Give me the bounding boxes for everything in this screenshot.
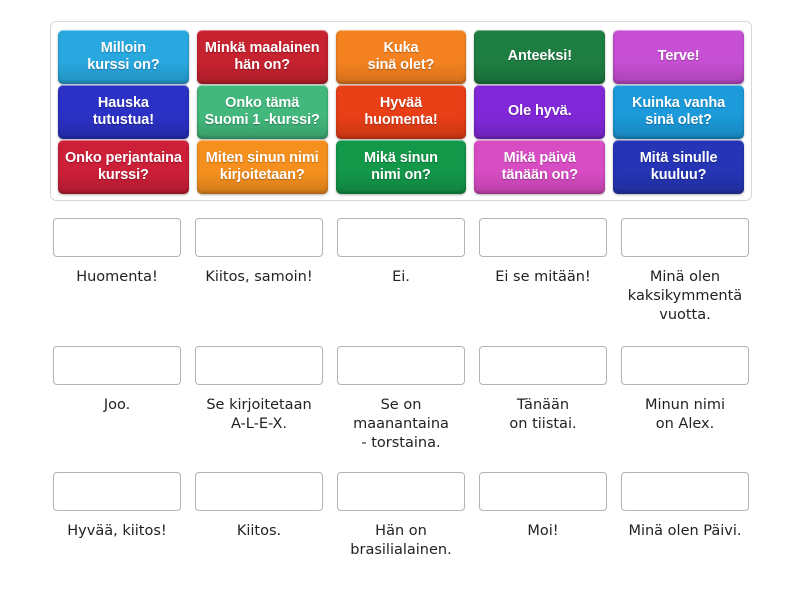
- answer-label: Minä olenkaksikymmentävuotta.: [619, 268, 751, 325]
- answer-cell: Se kirjoitetaanA-L-E-X.: [192, 338, 326, 458]
- answer-cell: Kiitos.: [192, 464, 326, 574]
- drop-zone[interactable]: [195, 218, 323, 257]
- answer-cell: Huomenta!: [50, 210, 184, 332]
- answer-label: Minun nimion Alex.: [619, 396, 751, 434]
- drop-zone[interactable]: [479, 218, 607, 257]
- activity-stage: Milloinkurssi on? Minkä maalainenhän on?…: [0, 0, 800, 600]
- answer-cell: Ei se mitään!: [476, 210, 610, 332]
- answer-cell: Tänäänon tiistai.: [476, 338, 610, 458]
- answer-row-3: Hyvää, kiitos! Kiitos. Hän onbrasilialai…: [50, 464, 752, 574]
- answer-label: Ei.: [335, 268, 467, 287]
- answer-cell: Minä olenkaksikymmentävuotta.: [618, 210, 752, 332]
- answer-row-1: Huomenta! Kiitos, samoin! Ei. Ei se mitä…: [50, 210, 752, 332]
- draggable-tile[interactable]: Onko tämäSuomi 1 -kurssi?: [197, 85, 328, 139]
- drop-zone[interactable]: [337, 472, 465, 511]
- answer-label: Kiitos, samoin!: [193, 268, 325, 287]
- drop-zone[interactable]: [621, 218, 749, 257]
- answer-cell: Hyvää, kiitos!: [50, 464, 184, 574]
- tile-label: Mitä sinullekuuluu?: [640, 150, 718, 184]
- drop-zone[interactable]: [621, 472, 749, 511]
- drop-zone[interactable]: [53, 472, 181, 511]
- tile-label: Onko tämäSuomi 1 -kurssi?: [205, 95, 320, 129]
- answer-cell: Minun nimion Alex.: [618, 338, 752, 458]
- answer-cell: Minä olen Päivi.: [618, 464, 752, 574]
- tile-row-2: Hauskatutustua! Onko tämäSuomi 1 -kurssi…: [58, 85, 744, 139]
- drop-zone[interactable]: [53, 218, 181, 257]
- drop-zone[interactable]: [479, 472, 607, 511]
- answer-label: Kiitos.: [193, 522, 325, 541]
- draggable-tile[interactable]: Ole hyvä.: [474, 85, 605, 139]
- tile-label: Onko perjantainakurssi?: [65, 150, 182, 184]
- answer-label: Se kirjoitetaanA-L-E-X.: [193, 396, 325, 434]
- draggable-tile[interactable]: Mikä sinunnimi on?: [336, 140, 467, 194]
- answer-label: Hän onbrasilialainen.: [335, 522, 467, 560]
- tile-bank-panel: Milloinkurssi on? Minkä maalainenhän on?…: [50, 21, 752, 201]
- draggable-tile[interactable]: Hyväähuomenta!: [336, 85, 467, 139]
- tile-label: Hauskatutustua!: [93, 95, 154, 129]
- draggable-tile[interactable]: Mitä sinullekuuluu?: [613, 140, 744, 194]
- answer-cell: Kiitos, samoin!: [192, 210, 326, 332]
- answer-cell: Se onmaanantaina- torstaina.: [334, 338, 468, 458]
- answer-label: Joo.: [51, 396, 183, 415]
- drop-zone[interactable]: [195, 472, 323, 511]
- answer-cell: Hän onbrasilialainen.: [334, 464, 468, 574]
- answer-area: Huomenta! Kiitos, samoin! Ei. Ei se mitä…: [50, 210, 752, 580]
- tile-row-1: Milloinkurssi on? Minkä maalainenhän on?…: [58, 30, 744, 84]
- answer-cell: Moi!: [476, 464, 610, 574]
- drop-zone[interactable]: [479, 346, 607, 385]
- drop-zone[interactable]: [53, 346, 181, 385]
- tile-label: Kukasinä olet?: [368, 40, 435, 74]
- tile-label: Ole hyvä.: [508, 103, 572, 120]
- tile-label: Hyväähuomenta!: [364, 95, 437, 129]
- answer-label: Tänäänon tiistai.: [477, 396, 609, 434]
- draggable-tile[interactable]: Onko perjantainakurssi?: [58, 140, 189, 194]
- draggable-tile[interactable]: Miten sinun nimikirjoitetaan?: [197, 140, 328, 194]
- draggable-tile[interactable]: Kuinka vanhasinä olet?: [613, 85, 744, 139]
- tile-label: Milloinkurssi on?: [87, 40, 159, 74]
- drop-zone[interactable]: [337, 346, 465, 385]
- answer-row-2: Joo. Se kirjoitetaanA-L-E-X. Se onmaanan…: [50, 338, 752, 458]
- draggable-tile[interactable]: Terve!: [613, 30, 744, 84]
- tile-row-3: Onko perjantainakurssi? Miten sinun nimi…: [58, 140, 744, 194]
- answer-cell: Joo.: [50, 338, 184, 458]
- drop-zone[interactable]: [621, 346, 749, 385]
- tile-label: Miten sinun nimikirjoitetaan?: [206, 150, 319, 184]
- tile-label: Terve!: [658, 48, 700, 65]
- drop-zone[interactable]: [337, 218, 465, 257]
- draggable-tile[interactable]: Anteeksi!: [474, 30, 605, 84]
- answer-label: Minä olen Päivi.: [619, 522, 751, 541]
- draggable-tile[interactable]: Minkä maalainenhän on?: [197, 30, 328, 84]
- tile-label: Kuinka vanhasinä olet?: [632, 95, 725, 129]
- draggable-tile[interactable]: Mikä päivätänään on?: [474, 140, 605, 194]
- answer-label: Ei se mitään!: [477, 268, 609, 287]
- answer-label: Hyvää, kiitos!: [51, 522, 183, 541]
- tile-label: Minkä maalainenhän on?: [205, 40, 320, 74]
- drop-zone[interactable]: [195, 346, 323, 385]
- tile-label: Anteeksi!: [508, 48, 572, 65]
- answer-cell: Ei.: [334, 210, 468, 332]
- answer-label: Se onmaanantaina- torstaina.: [335, 396, 467, 453]
- tile-label: Mikä sinunnimi on?: [364, 150, 438, 184]
- draggable-tile[interactable]: Kukasinä olet?: [336, 30, 467, 84]
- draggable-tile[interactable]: Hauskatutustua!: [58, 85, 189, 139]
- answer-label: Huomenta!: [51, 268, 183, 287]
- tile-label: Mikä päivätänään on?: [502, 150, 578, 184]
- draggable-tile[interactable]: Milloinkurssi on?: [58, 30, 189, 84]
- answer-label: Moi!: [477, 522, 609, 541]
